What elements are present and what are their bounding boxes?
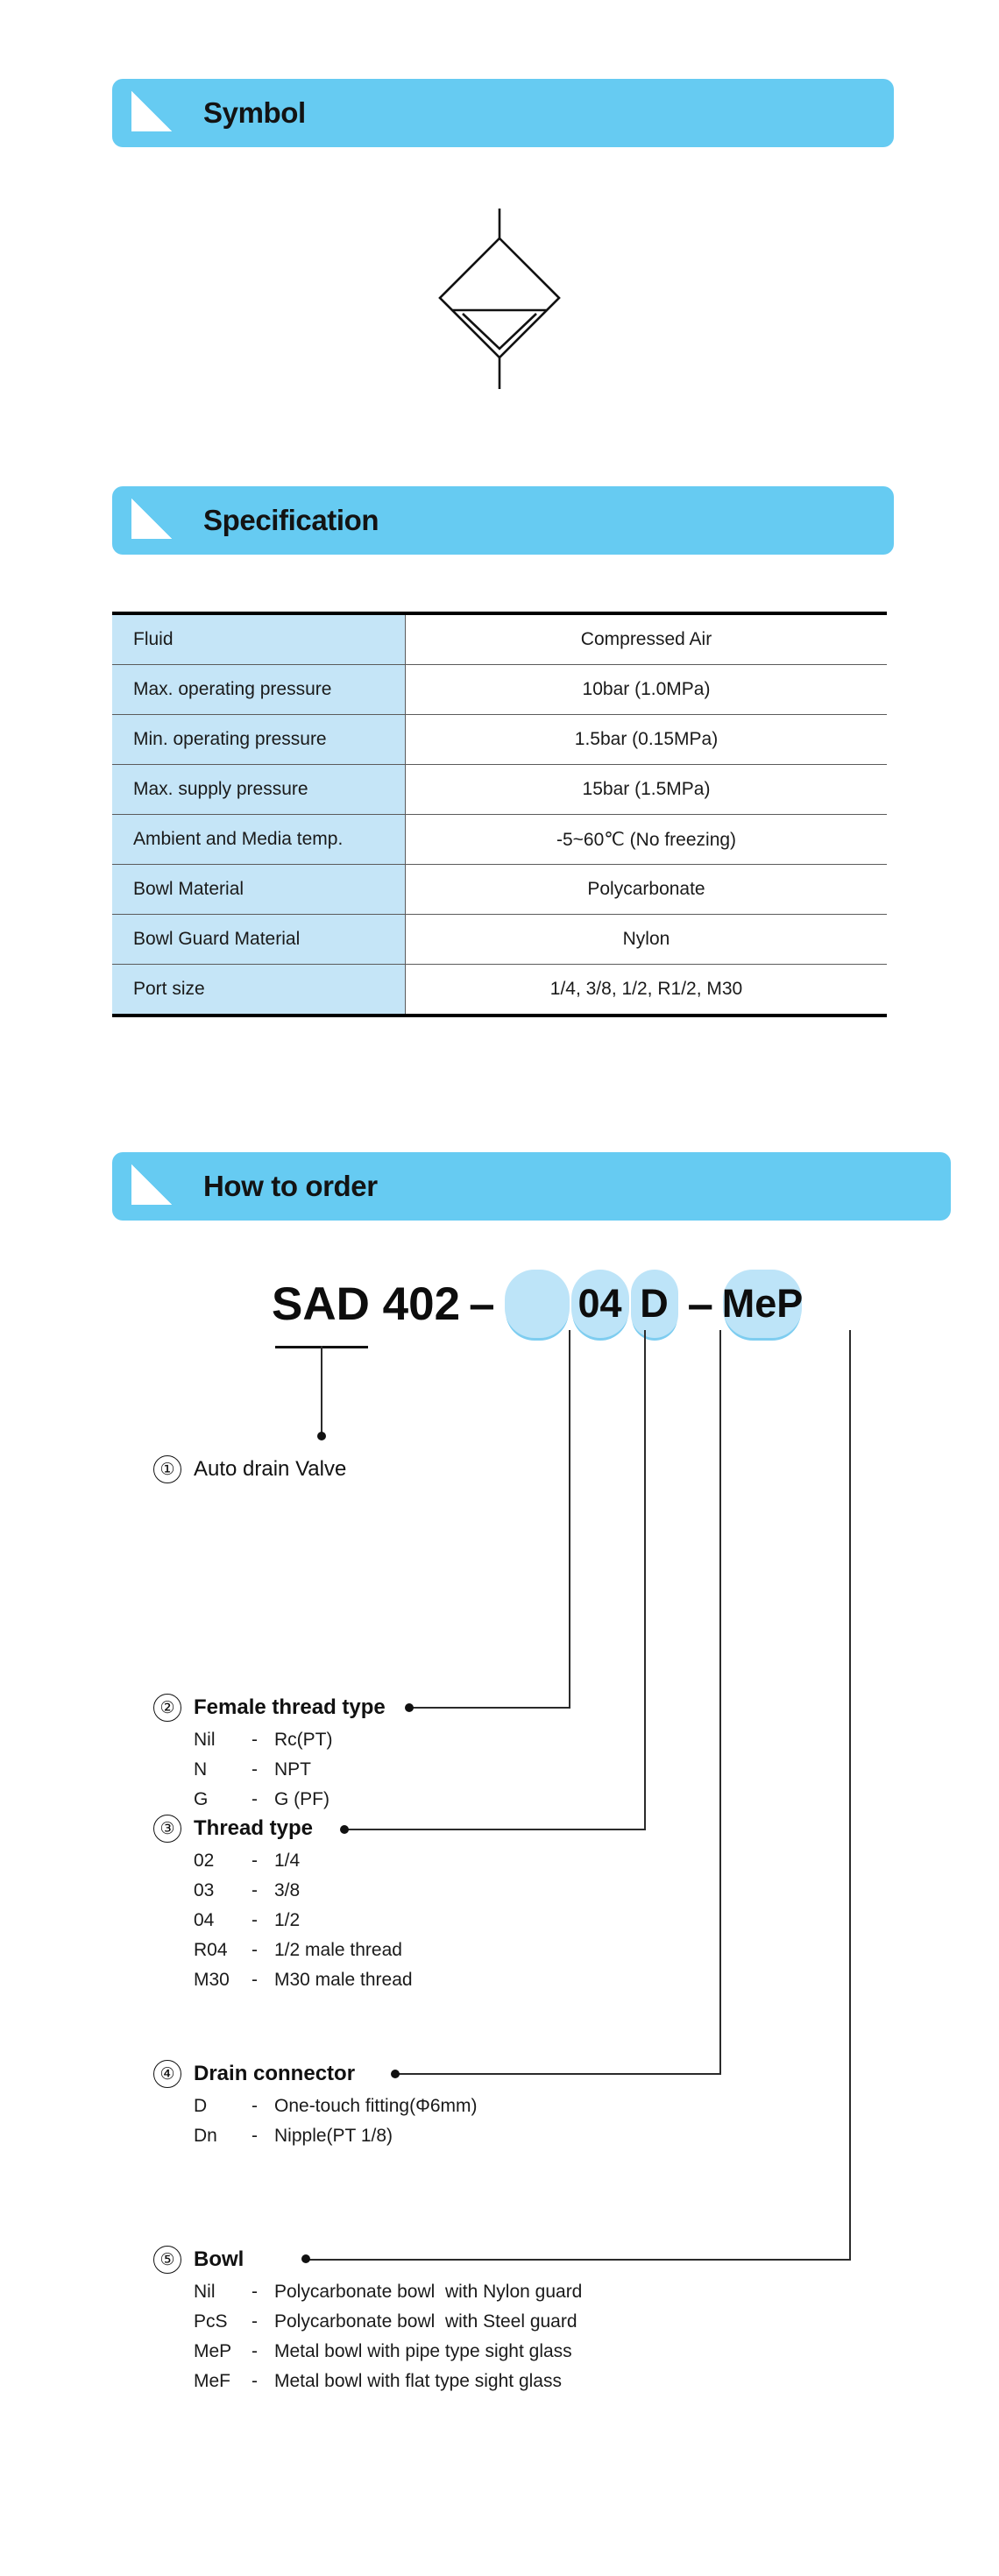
option-dash: - [252, 1880, 274, 1901]
leader-line-5-vertical [849, 1330, 851, 2261]
legend-number-5: ⑤ [153, 2246, 181, 2274]
legend-options-5: Nil - Polycarbonate bowl with Nylon guar… [194, 2282, 582, 2401]
table-row: Bowl Material Polycarbonate [112, 865, 887, 915]
option-desc: Metal bowl with flat type sight glass [274, 2371, 562, 2392]
list-item: MeP - Metal bowl with pipe type sight gl… [194, 2341, 582, 2371]
legend-item-1: ① Auto drain Valve [153, 1454, 346, 1484]
spec-value: 1/4, 3/8, 1/2, R1/2, M30 [406, 965, 888, 1016]
option-desc: M30 male thread [274, 1970, 413, 1991]
model-code-bubble-drain-connector[interactable]: D [631, 1270, 678, 1338]
spec-value: 15bar (1.5MPa) [406, 765, 888, 815]
option-dash: - [252, 1910, 274, 1931]
spec-value: Nylon [406, 915, 888, 965]
legend-head-2: ② Female thread type [153, 1693, 386, 1723]
list-item: M30 - M30 male thread [194, 1970, 413, 1999]
legend-title-3: Thread type [194, 1816, 313, 1841]
option-code: Nil [194, 2282, 252, 2303]
spec-value: Compressed Air [406, 613, 888, 665]
list-item: PcS - Polycarbonate bowl with Steel guar… [194, 2311, 582, 2341]
table-row: Bowl Guard Material Nylon [112, 915, 887, 965]
option-dash: - [252, 2282, 274, 2303]
list-item: Dn - Nipple(PT 1/8) [194, 2126, 478, 2155]
leader-line-4-vertical [719, 1330, 721, 2075]
option-dash: - [252, 1970, 274, 1991]
section-banner-specification: Specification [112, 486, 894, 555]
table-row: Max. operating pressure 10bar (1.0MPa) [112, 665, 887, 715]
option-desc: Nipple(PT 1/8) [274, 2126, 393, 2147]
option-desc: 1/2 [274, 1910, 300, 1931]
banner-corner-mark-icon [131, 91, 172, 131]
legend-head-1: ① Auto drain Valve [153, 1454, 346, 1484]
list-item: Nil - Rc(PT) [194, 1730, 386, 1759]
section-title-symbol: Symbol [203, 96, 306, 130]
table-row: Min. operating pressure 1.5bar (0.15MPa) [112, 715, 887, 765]
option-dash: - [252, 1851, 274, 1872]
legend-head-5: ⑤ Bowl [153, 2245, 582, 2275]
section-title-how-to-order: How to order [203, 1170, 378, 1203]
legend-number-1: ① [153, 1455, 181, 1483]
banner-corner-mark-icon [131, 1164, 172, 1205]
spec-key: Min. operating pressure [112, 715, 406, 765]
leader-line-2-vertical [569, 1330, 570, 1709]
option-code: G [194, 1789, 252, 1810]
spec-key: Bowl Material [112, 865, 406, 915]
option-code: N [194, 1759, 252, 1780]
legend-number-4: ④ [153, 2060, 181, 2088]
list-item: 02 - 1/4 [194, 1851, 413, 1880]
spec-key: Bowl Guard Material [112, 915, 406, 965]
legend-title-4: Drain connector [194, 2062, 355, 2086]
list-item: R04 - 1/2 male thread [194, 1940, 413, 1970]
list-item: D - One-touch fitting(Φ6mm) [194, 2096, 478, 2126]
legend-title-2: Female thread type [194, 1695, 386, 1720]
spec-key: Max. supply pressure [112, 765, 406, 815]
option-code: MeF [194, 2371, 252, 2392]
legend-title-5: Bowl [194, 2247, 244, 2272]
option-code: M30 [194, 1970, 252, 1991]
option-code: 02 [194, 1851, 252, 1872]
model-code-bubble-female-thread[interactable] [505, 1270, 570, 1338]
option-dash: - [252, 2371, 274, 2392]
option-desc: 1/2 male thread [274, 1940, 402, 1961]
option-desc: Polycarbonate bowl with Steel guard [274, 2311, 577, 2332]
legend-head-3: ③ Thread type [153, 1814, 413, 1844]
banner-corner-mark-icon [131, 499, 172, 539]
section-title-specification: Specification [203, 504, 379, 537]
option-desc: 3/8 [274, 1880, 300, 1901]
spec-key: Fluid [112, 613, 406, 665]
spec-key: Ambient and Media temp. [112, 815, 406, 865]
option-code: Nil [194, 1730, 252, 1751]
list-item: Nil - Polycarbonate bowl with Nylon guar… [194, 2282, 582, 2311]
leader-dot-2 [405, 1703, 414, 1712]
list-item: 04 - 1/2 [194, 1910, 413, 1940]
specification-table: Fluid Compressed Air Max. operating pres… [112, 612, 887, 1017]
legend-title-1: Auto drain Valve [194, 1457, 346, 1482]
legend-head-4: ④ Drain connector [153, 2059, 478, 2089]
model-code-row: SAD 402 – 04 D – MeP [272, 1262, 803, 1346]
option-desc: NPT [274, 1759, 311, 1780]
how-to-order-content: SAD 402 – 04 D – MeP ① Auto drain Valve … [0, 1244, 999, 2515]
option-code: PcS [194, 2311, 252, 2332]
option-desc: Rc(PT) [274, 1730, 333, 1751]
option-dash: - [252, 2096, 274, 2117]
legend-item-4: ④ Drain connector D - One-touch fitting(… [153, 2059, 478, 2155]
leader-dot-1 [317, 1432, 326, 1440]
option-dash: - [252, 1730, 274, 1751]
section-banner-symbol: Symbol [112, 79, 894, 147]
option-dash: - [252, 2311, 274, 2332]
table-row: Port size 1/4, 3/8, 1/2, R1/2, M30 [112, 965, 887, 1016]
spec-value: -5~60℃ (No freezing) [406, 815, 888, 865]
legend-options-3: 02 - 1/4 03 - 3/8 04 - 1/2 R04 - 1/2 mal… [194, 1851, 413, 1999]
option-code: D [194, 2096, 252, 2117]
option-dash: - [252, 1940, 274, 1961]
list-item: MeF - Metal bowl with flat type sight gl… [194, 2371, 582, 2401]
spec-key: Max. operating pressure [112, 665, 406, 715]
option-desc: One-touch fitting(Φ6mm) [274, 2096, 478, 2117]
option-desc: Metal bowl with pipe type sight glass [274, 2341, 572, 2362]
option-code: Dn [194, 2126, 252, 2147]
legend-number-3: ③ [153, 1815, 181, 1843]
option-dash: - [252, 1759, 274, 1780]
table-row: Ambient and Media temp. -5~60℃ (No freez… [112, 815, 887, 865]
legend-item-2: ② Female thread type Nil - Rc(PT) N - NP… [153, 1693, 386, 1819]
option-desc: Polycarbonate bowl with Nylon guard [274, 2282, 582, 2303]
table-row: Max. supply pressure 15bar (1.5MPa) [112, 765, 887, 815]
model-code-bubble-bowl[interactable]: MeP [723, 1270, 802, 1338]
option-dash: - [252, 2126, 274, 2147]
list-item: N - NPT [194, 1759, 386, 1789]
option-desc: 1/4 [274, 1851, 300, 1872]
table-row: Fluid Compressed Air [112, 613, 887, 665]
spec-value: Polycarbonate [406, 865, 888, 915]
spec-value: 10bar (1.0MPa) [406, 665, 888, 715]
legend-options-2: Nil - Rc(PT) N - NPT G - G (PF) [194, 1730, 386, 1819]
section-banner-how-to-order: How to order [112, 1152, 951, 1221]
option-code: 03 [194, 1880, 252, 1901]
option-desc: G (PF) [274, 1789, 329, 1810]
list-item: 03 - 3/8 [194, 1880, 413, 1910]
option-dash: - [252, 2341, 274, 2362]
leader-line-2-horizontal [408, 1707, 570, 1709]
model-code-bubble-thread-type[interactable]: 04 [571, 1270, 629, 1338]
leader-line-3-vertical [644, 1330, 646, 1830]
model-code-dash-2: – [688, 1281, 713, 1327]
legend-item-5: ⑤ Bowl Nil - Polycarbonate bowl with Nyl… [153, 2245, 582, 2401]
model-code-dash-1: – [469, 1281, 494, 1327]
auto-drain-filter-symbol-icon [0, 202, 999, 403]
option-dash: - [252, 1789, 274, 1810]
leader-line-1-vertical [321, 1346, 322, 1435]
legend-number-2: ② [153, 1694, 181, 1722]
option-code: 04 [194, 1910, 252, 1931]
symbol-diagram-area [0, 202, 999, 403]
model-code-prefix: SAD 402 [272, 1281, 460, 1327]
option-code: R04 [194, 1940, 252, 1961]
spec-key: Port size [112, 965, 406, 1016]
spec-value: 1.5bar (0.15MPa) [406, 715, 888, 765]
legend-options-4: D - One-touch fitting(Φ6mm) Dn - Nipple(… [194, 2096, 478, 2155]
option-code: MeP [194, 2341, 252, 2362]
legend-item-3: ③ Thread type 02 - 1/4 03 - 3/8 04 - 1/2… [153, 1814, 413, 1999]
